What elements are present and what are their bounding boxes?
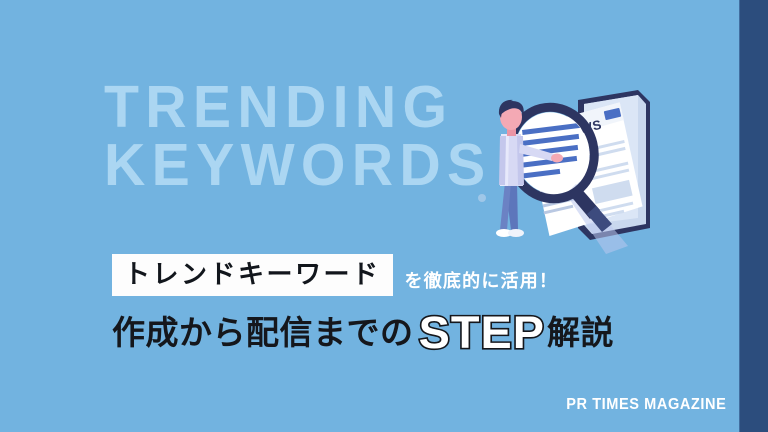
- tagline-lead: 作成から配信までの: [112, 316, 414, 349]
- poster-canvas: TRENDING KEYWORDS トレンドキーワード を徹底的に活用！ 作成か…: [0, 0, 768, 432]
- decorative-dot: [478, 194, 486, 202]
- brand-logo-text: PR TIMES MAGAZINE: [566, 397, 726, 413]
- right-edge-bar: [740, 0, 768, 432]
- subheading-suffix: を徹底的に活用！: [405, 267, 559, 293]
- tagline-row: 作成から配信までの STEP 解説: [112, 306, 614, 351]
- tagline-step-word: STEP: [418, 310, 544, 355]
- keyword-chip: トレンドキーワード: [112, 254, 393, 296]
- hero-illustration: NEWS: [478, 78, 688, 263]
- headline-line-1: TRENDING: [104, 74, 453, 140]
- tagline-trail: 解説: [547, 316, 614, 349]
